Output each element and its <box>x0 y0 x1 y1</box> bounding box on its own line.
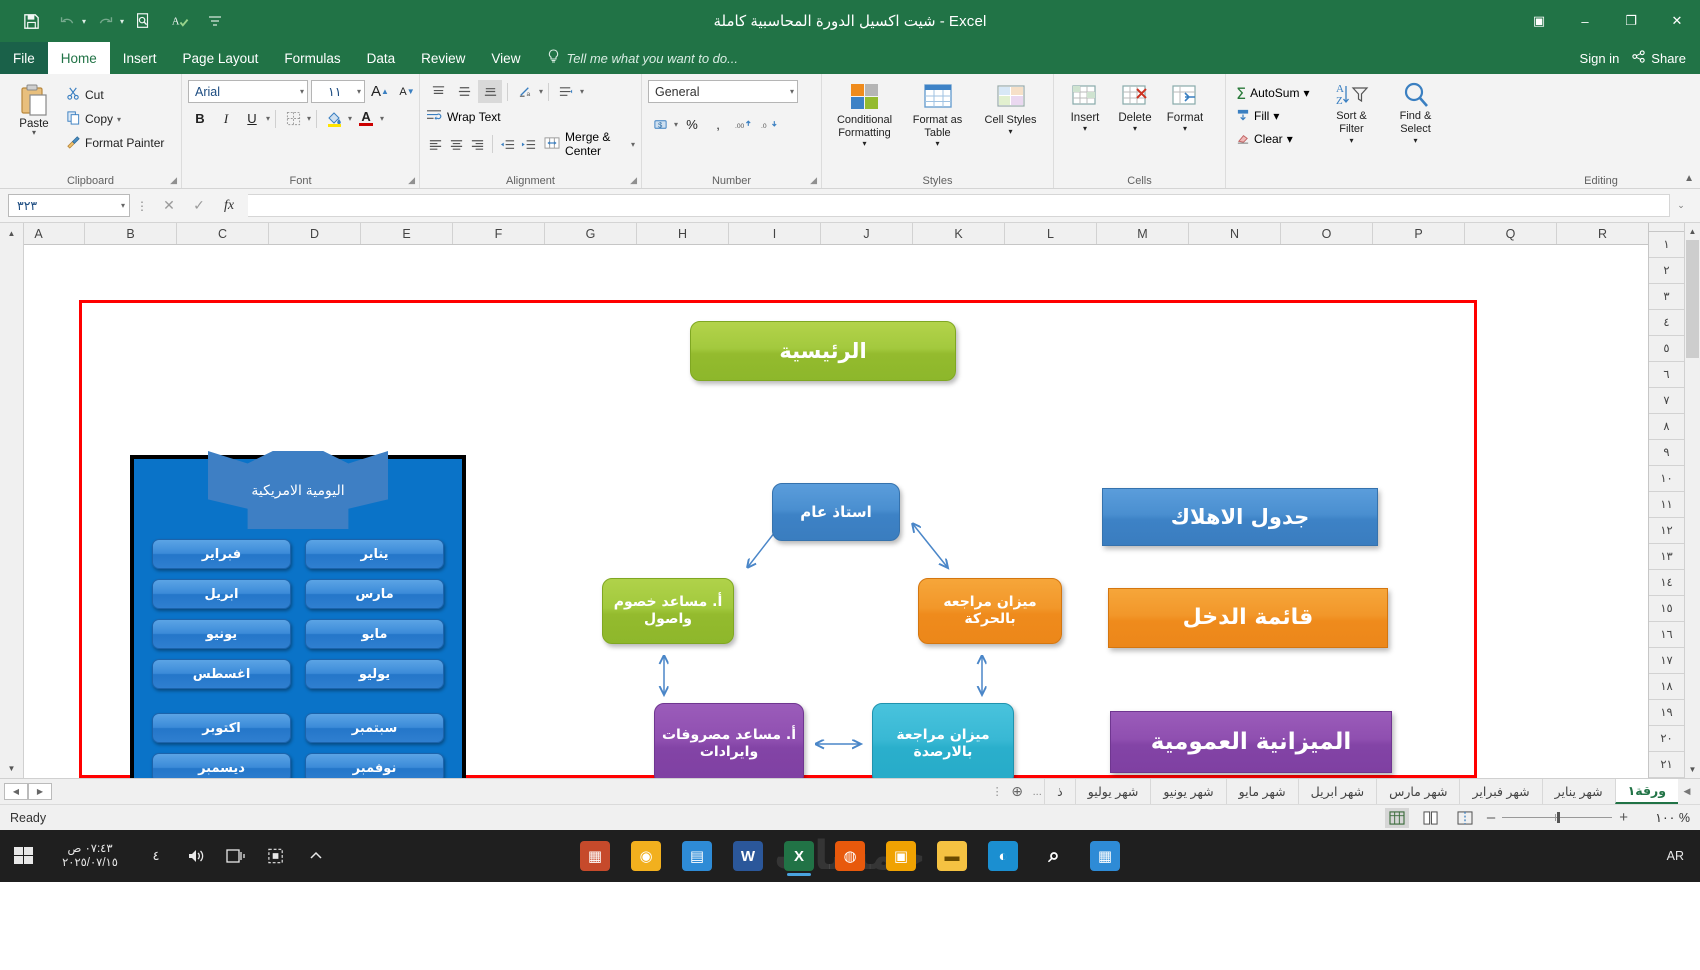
search-icon: ⌕ <box>1039 841 1069 871</box>
sign-in-link[interactable]: Sign in <box>1580 51 1620 66</box>
font-size-value: ١١ <box>328 84 341 99</box>
share-icon <box>1631 49 1646 67</box>
ribbon-tab-formulas[interactable]: Formulas <box>271 42 353 74</box>
sort-filter-label: Sort & Filter <box>1324 110 1380 136</box>
decrease-font-size-button[interactable]: A▼ <box>395 80 419 103</box>
row-header-8[interactable]: ٨ <box>1649 414 1684 440</box>
calculator-icon: ▤ <box>682 841 712 871</box>
node-balance-sheet[interactable]: الميزانية العمومية <box>1110 711 1392 773</box>
left-gutter: ▲ ▼ <box>0 223 24 778</box>
photos-icon: ▣ <box>886 841 916 871</box>
language-indicator[interactable]: AR <box>1659 849 1692 863</box>
paintbrush-icon <box>66 134 81 152</box>
scroll-down-icon[interactable]: ▼ <box>0 758 23 778</box>
autosum-dropdown-icon[interactable]: ▾ <box>1303 86 1309 100</box>
taskbar-calculator-app[interactable]: ▤ <box>676 834 718 878</box>
find-select-label: Find & Select <box>1388 110 1444 136</box>
node-trial-balance-totals[interactable]: ميزان مراجعة بالارصدة <box>872 703 1014 778</box>
volume-icon[interactable] <box>176 833 216 879</box>
status-bar-right: – + ١٠٠ % <box>1385 808 1690 828</box>
cut-button[interactable]: Cut <box>62 84 168 106</box>
wrap-text-label: Wrap Text <box>447 110 501 124</box>
node-expenses-revenues-subledger[interactable]: أ. مساعد مصروفات وايرادات <box>654 703 804 778</box>
column-header-B[interactable]: B <box>84 223 176 244</box>
share-button[interactable]: Share <box>1631 49 1686 67</box>
svg-text:A: A <box>1336 83 1344 95</box>
sheet-tab-bar: ◀ ورقة١ شهر يناير شهر فبراير شهر مارس شه… <box>0 778 1700 804</box>
diagram-canvas[interactable]: الرئيسية اليومية الامريكية يناير فبراير … <box>24 245 1648 778</box>
format-as-table-button[interactable]: Format as Table ▾ <box>901 80 974 148</box>
copy-label: Copy <box>85 112 113 126</box>
save-icon[interactable] <box>14 6 48 36</box>
rtl-dropdown-icon[interactable]: ▾ <box>580 87 584 96</box>
task-view-icon[interactable] <box>216 833 256 879</box>
column-header-O[interactable]: O <box>1280 223 1372 244</box>
taskbar-right: AR <box>1659 849 1700 863</box>
sheet-tab-partial[interactable]: ذ <box>1044 779 1075 804</box>
month-button-yanayir[interactable]: يناير <box>305 539 444 569</box>
sort-filter-button[interactable]: AZ Sort & Filter ▾ <box>1324 80 1380 146</box>
column-header-K[interactable]: K <box>912 223 1004 244</box>
accounting-dropdown-icon[interactable]: ▾ <box>674 120 678 129</box>
align-bottom-icon[interactable] <box>478 80 502 103</box>
column-header-D[interactable]: D <box>268 223 360 244</box>
merge-center-button[interactable]: Merge & Center ▾ <box>544 130 635 158</box>
confirm-entry-button[interactable]: ✓ <box>184 197 214 214</box>
taskbar-chrome-app[interactable]: ◉ <box>625 834 667 878</box>
fill-color-dropdown-icon[interactable]: ▾ <box>348 114 352 123</box>
percent-style-button[interactable]: % <box>680 113 704 136</box>
font-dialog-launcher[interactable]: ◢ <box>408 175 415 186</box>
scroll-up-icon[interactable]: ▲ <box>1685 223 1700 240</box>
first-sheet-icon[interactable]: ◀ <box>1678 786 1696 797</box>
row-header-5[interactable]: ٥ <box>1649 336 1684 362</box>
sheet-tab-july[interactable]: شهر يوليو <box>1075 779 1151 804</box>
ribbon-tab-page-layout[interactable]: Page Layout <box>170 42 272 74</box>
gutter-filler <box>0 243 23 758</box>
taskbar-store2-app[interactable]: ▦ <box>1084 834 1126 878</box>
underline-dropdown-icon[interactable]: ▾ <box>266 114 270 123</box>
column-header-A[interactable]: A <box>24 223 84 244</box>
taskbar-left: ٠٧:٤٣ ص ٢٠٢٥/٠٧/١٥ ٤ <box>0 833 336 879</box>
wrap-text-icon <box>426 108 442 125</box>
row-header-11[interactable]: ١١ <box>1649 492 1684 518</box>
share-label: Share <box>1651 51 1686 66</box>
font-family-combo[interactable]: Arial ▾ <box>188 80 308 103</box>
zoom-level-label[interactable]: ١٠٠ % <box>1638 810 1690 825</box>
column-header-I[interactable]: I <box>728 223 820 244</box>
alignment-group-label: Alignment <box>420 175 641 187</box>
status-bar: Ready – + ١٠٠ % <box>0 804 1700 830</box>
store2-icon: ▦ <box>1090 841 1120 871</box>
sheet-canvas[interactable]: R Q P O N M L K J I H G F E D C B A <box>24 223 1648 778</box>
taskbar-excel-app[interactable]: X <box>778 834 820 878</box>
taskbar-clock[interactable]: ٠٧:٤٣ ص ٢٠٢٥/٠٧/١٥ <box>44 842 136 871</box>
zoom-in-button[interactable]: + <box>1619 809 1628 826</box>
close-button[interactable]: ✕ <box>1654 0 1700 42</box>
journal-panel: اليومية الامريكية يناير فبراير مارس ابري… <box>130 455 466 778</box>
row-header-21[interactable]: ٢١ <box>1649 752 1684 778</box>
align-center-icon[interactable] <box>447 133 466 156</box>
edge-icon: ◐ <box>988 841 1018 871</box>
ribbon-group-cells: Insert ▾ Delete ▾ Format ▾ Cells <box>1054 74 1226 188</box>
clear-dropdown-icon[interactable]: ▾ <box>1287 132 1293 146</box>
divider <box>548 83 549 101</box>
folder-icon: ▬ <box>937 841 967 871</box>
number-format-combo[interactable]: General ▾ <box>648 80 798 103</box>
svg-text:.00: .00 <box>735 123 745 130</box>
column-header-H[interactable]: H <box>636 223 728 244</box>
ribbon-group-clipboard: Paste ▾ Cut Copy ▾ <box>0 74 182 188</box>
vertical-scroll-thumb[interactable] <box>1686 240 1699 358</box>
sheet-tab-options-icon[interactable]: ⋮ <box>990 779 1004 804</box>
zoom-control[interactable]: – + <box>1487 809 1628 826</box>
zoom-out-button[interactable]: – <box>1487 809 1495 826</box>
customize-qat-icon[interactable] <box>198 6 232 36</box>
copy-dropdown-icon[interactable]: ▾ <box>117 115 121 124</box>
word-icon: W <box>733 841 763 871</box>
month-button-mayu[interactable]: مايو <box>305 619 444 649</box>
tell-me-label: Tell me what you want to do... <box>566 51 738 66</box>
row-header-17[interactable]: ١٧ <box>1649 648 1684 674</box>
fill-color-icon[interactable] <box>322 107 346 130</box>
sheet-tab-may[interactable]: شهر مايو <box>1226 779 1298 804</box>
row-header-3[interactable]: ٣ <box>1649 284 1684 310</box>
delete-cells-button[interactable]: Delete ▾ <box>1110 80 1160 133</box>
font-size-combo[interactable]: ١١ ▾ <box>311 80 365 103</box>
collapse-ribbon-icon[interactable]: ▲ <box>1684 173 1694 184</box>
taskbar-store-app[interactable]: ▦ <box>574 834 616 878</box>
fill-label: Fill <box>1254 109 1269 123</box>
hscroll-right-icon[interactable]: ▶ <box>28 783 52 800</box>
divider <box>275 110 276 128</box>
excel-icon: X <box>784 841 814 871</box>
title-bar: ▾ ▾ A شيت اكسيل الدورة المحاسبية كاملة -… <box>0 0 1700 42</box>
insert-cells-label: Insert <box>1071 112 1100 124</box>
print-preview-icon[interactable] <box>126 6 160 36</box>
increase-decimal-button[interactable]: .00 <box>732 113 756 136</box>
conditional-formatting-button[interactable]: Conditional Formatting ▾ <box>828 80 901 148</box>
zoom-slider-thumb[interactable] <box>1557 812 1560 823</box>
font-color-dropdown-icon[interactable]: ▾ <box>380 114 384 123</box>
month-button-fibrayir[interactable]: فبراير <box>152 539 291 569</box>
svg-text:.0: .0 <box>761 123 767 130</box>
undo-icon[interactable] <box>50 6 84 36</box>
firefox-icon: ◍ <box>835 841 865 871</box>
increase-indent-icon[interactable] <box>519 133 538 156</box>
column-header-F[interactable]: F <box>452 223 544 244</box>
accounting-format-icon[interactable]: $ <box>648 113 672 136</box>
clear-button[interactable]: Clear ▾ <box>1232 128 1314 150</box>
status-state-label: Ready <box>10 811 46 825</box>
conditional-formatting-dropdown-icon[interactable]: ▾ <box>862 139 866 148</box>
editing-group-label: Editing <box>1536 175 1666 187</box>
autosum-label: AutoSum <box>1250 86 1299 100</box>
node-general-ledger[interactable]: استاذ عام <box>772 483 900 541</box>
redo-icon[interactable] <box>88 6 122 36</box>
row-header-20[interactable]: ٢٠ <box>1649 726 1684 752</box>
month-button-yunyu[interactable]: يونيو <box>152 619 291 649</box>
snip-icon[interactable] <box>256 833 296 879</box>
format-cells-button[interactable]: Format ▾ <box>1160 80 1210 133</box>
page-layout-view-icon[interactable] <box>1419 808 1443 828</box>
taskbar-folder-app[interactable]: ▬ <box>931 834 973 878</box>
scroll-down-icon[interactable]: ▼ <box>1685 761 1700 778</box>
format-painter-label: Format Painter <box>85 136 164 150</box>
journal-banner: اليومية الامريكية <box>208 451 388 529</box>
sheet-tab-overflow-icon[interactable]: ... <box>1030 779 1044 804</box>
svg-text:A: A <box>171 16 179 27</box>
tell-me-box[interactable]: Tell me what you want to do... <box>547 42 738 74</box>
clock-time: ٠٧:٤٣ ص <box>67 842 112 856</box>
row-header-2[interactable]: ٢ <box>1649 258 1684 284</box>
column-header-Q[interactable]: Q <box>1464 223 1556 244</box>
sheet-tab-march[interactable]: شهر مارس <box>1376 779 1459 804</box>
taskbar-search-app[interactable]: ⌕ <box>1033 834 1075 878</box>
find-select-dropdown-icon[interactable]: ▾ <box>1413 136 1417 146</box>
insert-cells-dropdown-icon[interactable]: ▾ <box>1083 124 1087 133</box>
ribbon-tab-home[interactable]: Home <box>48 42 110 74</box>
node-liabilities-assets-subledger[interactable]: أ. مساعد خصوم واصول <box>602 578 734 644</box>
ribbon-tab-file[interactable]: File <box>0 42 48 74</box>
align-middle-icon[interactable] <box>452 80 476 103</box>
find-select-button[interactable]: Find & Select ▾ <box>1388 80 1444 146</box>
month-button-abril[interactable]: ابريل <box>152 579 291 609</box>
ribbon-tab-data[interactable]: Data <box>354 42 409 74</box>
month-button-yulyu[interactable]: يوليو <box>305 659 444 689</box>
row-header-12[interactable]: ١٢ <box>1649 518 1684 544</box>
merge-cells-icon <box>544 136 560 153</box>
select-all-corner[interactable]: ▲ <box>0 223 23 243</box>
row-header-10[interactable]: ١٠ <box>1649 466 1684 492</box>
paste-dropdown-icon[interactable]: ▾ <box>32 128 36 137</box>
fill-button[interactable]: Fill ▾ <box>1232 105 1314 127</box>
row-header-7[interactable]: ٧ <box>1649 388 1684 414</box>
alignment-dialog-launcher[interactable]: ◢ <box>630 175 637 186</box>
lightbulb-icon <box>547 49 560 67</box>
svg-text:Z: Z <box>1336 95 1343 107</box>
month-button-nufambir[interactable]: نوفمبر <box>305 753 444 778</box>
row-header-18[interactable]: ١٨ <box>1649 674 1684 700</box>
row-header-4[interactable]: ٤ <box>1649 310 1684 336</box>
ribbon-group-font: Arial ▾ ١١ ▾ A▲ A▼ B I U ▾ ▾ <box>182 74 420 188</box>
conditional-formatting-label: Conditional Formatting <box>828 114 901 139</box>
formula-input[interactable] <box>248 194 1670 217</box>
month-button-uktubir[interactable]: اكتوبر <box>152 713 291 743</box>
insert-cells-button[interactable]: Insert ▾ <box>1060 80 1110 133</box>
sheet-tab-february[interactable]: شهر فبراير <box>1459 779 1541 804</box>
chevron-down-icon: ▾ <box>121 201 125 210</box>
font-group-label: Font <box>182 175 419 187</box>
font-color-letter: A <box>361 111 370 122</box>
bold-button[interactable]: B <box>188 107 212 130</box>
node-depreciation-schedule[interactable]: جدول الاهلاك <box>1102 488 1378 546</box>
number-dialog-launcher[interactable]: ◢ <box>810 175 817 186</box>
delete-cells-label: Delete <box>1118 112 1151 124</box>
rtl-direction-icon[interactable] <box>554 80 578 103</box>
borders-icon[interactable] <box>281 107 305 130</box>
taskbar: خمسات ٠٧:٤٣ ص ٢٠٢٥/٠٧/١٥ ٤ ▦ ◉ ▤ W X ◍ <box>0 830 1700 882</box>
horizontal-scroll-controls: ◀ ▶ <box>4 779 52 804</box>
scissors-icon <box>66 86 81 104</box>
orientation-icon[interactable]: a <box>513 80 537 103</box>
normal-view-icon[interactable] <box>1385 808 1409 828</box>
autosum-button[interactable]: Σ AutoSum ▾ <box>1232 82 1314 104</box>
sheet-tab-waraqa1[interactable]: ورقة١ <box>1615 779 1678 804</box>
column-header-P[interactable]: P <box>1372 223 1464 244</box>
orientation-dropdown-icon[interactable]: ▾ <box>539 87 543 96</box>
quick-access-toolbar: ▾ ▾ A <box>0 6 232 36</box>
taskbar-firefox-app[interactable]: ◍ <box>829 834 871 878</box>
taskbar-word-app[interactable]: W <box>727 834 769 878</box>
format-as-table-label: Format as Table <box>901 114 974 139</box>
format-painter-button[interactable]: Format Painter <box>62 132 168 154</box>
zoom-slider-track[interactable] <box>1502 817 1612 818</box>
row-headers: ١ ٢ ٣ ٤ ٥ ٦ ٧ ٨ ٩ ١٠ ١١ ١٢ ١٣ ١٤ ١٥ ١٦ ١… <box>1648 223 1684 778</box>
taskbar-edge-app[interactable]: ◐ <box>982 834 1024 878</box>
cancel-entry-button[interactable]: ✕ <box>154 197 184 214</box>
ribbon-group-editing: Σ AutoSum ▾ Fill ▾ Clear ▾ AZ Sort & Fil… <box>1226 74 1700 188</box>
name-box-value: ٣٢٣ <box>17 198 37 213</box>
font-color-icon[interactable]: A <box>354 107 378 130</box>
sort-filter-dropdown-icon[interactable]: ▾ <box>1349 136 1353 146</box>
row-header-6[interactable]: ٦ <box>1649 362 1684 388</box>
align-left-icon[interactable] <box>426 133 445 156</box>
cell-styles-label: Cell Styles <box>985 114 1037 127</box>
align-right-icon[interactable] <box>468 133 487 156</box>
column-header-R[interactable]: R <box>1556 223 1648 244</box>
row-header-15[interactable]: ١٥ <box>1649 596 1684 622</box>
node-trial-balance-movement[interactable]: ميزان مراجعه بالحركة <box>918 578 1062 644</box>
column-header-L[interactable]: L <box>1004 223 1096 244</box>
clear-label: Clear <box>1254 132 1283 146</box>
paste-button[interactable]: Paste ▾ <box>6 80 62 137</box>
borders-dropdown-icon[interactable]: ▾ <box>307 114 311 123</box>
worksheet-area: ▲ ▼ R Q P O N M L K J I H G F E D C B A <box>0 223 1700 778</box>
new-sheet-button[interactable]: ⊕ <box>1004 779 1030 804</box>
taskbar-photos-app[interactable]: ▣ <box>880 834 922 878</box>
name-box[interactable]: ٣٢٣ ▾ <box>8 194 130 217</box>
align-top-icon[interactable] <box>426 80 450 103</box>
styles-group-label: Styles <box>822 175 1053 187</box>
vertical-scroll-track[interactable] <box>1685 240 1700 761</box>
format-as-table-dropdown-icon[interactable]: ▾ <box>935 139 939 148</box>
ribbon-tab-review[interactable]: Review <box>408 42 478 74</box>
cells-group-label: Cells <box>1054 175 1225 187</box>
italic-button[interactable]: I <box>214 107 238 130</box>
row-header-13[interactable]: ١٣ <box>1649 544 1684 570</box>
chevron-down-icon: ▾ <box>357 87 361 96</box>
underline-button[interactable]: U <box>240 107 264 130</box>
notification-count-badge[interactable]: ٤ <box>136 833 176 879</box>
column-header-M[interactable]: M <box>1096 223 1188 244</box>
increase-font-size-button[interactable]: A▲ <box>368 80 392 103</box>
minimize-button[interactable]: – <box>1562 0 1608 42</box>
delete-cells-dropdown-icon[interactable]: ▾ <box>1133 124 1137 133</box>
row-header-corner[interactable] <box>1649 223 1684 232</box>
fill-dropdown-icon[interactable]: ▾ <box>1273 109 1279 123</box>
row-header-1[interactable]: ١ <box>1649 232 1684 258</box>
column-headers: R Q P O N M L K J I H G F E D C B A <box>24 223 1648 245</box>
taskbar-apps: ▦ ◉ ▤ W X ◍ ▣ ▬ ◐ ⌕ ▦ <box>574 834 1126 878</box>
font-color-swatch <box>359 123 373 126</box>
column-header-J[interactable]: J <box>820 223 912 244</box>
node-income-statement[interactable]: قائمة الدخل <box>1108 588 1388 648</box>
decrease-indent-icon[interactable] <box>498 133 517 156</box>
ribbon-display-options-icon[interactable]: ▣ <box>1516 0 1562 42</box>
cell-styles-button[interactable]: Cell Styles ▾ <box>974 80 1047 136</box>
month-buttons-grid: يناير فبراير مارس ابريل مايو يونيو يوليو… <box>152 539 444 778</box>
sheet-tab-january[interactable]: شهر يناير <box>1542 779 1615 804</box>
ribbon-tab-insert[interactable]: Insert <box>110 42 170 74</box>
column-header-N[interactable]: N <box>1188 223 1280 244</box>
clipboard-dialog-launcher[interactable]: ◢ <box>170 175 177 186</box>
row-header-16[interactable]: ١٦ <box>1649 622 1684 648</box>
month-button-aghustus[interactable]: اغسطس <box>152 659 291 689</box>
format-cells-dropdown-icon[interactable]: ▾ <box>1183 124 1187 133</box>
ribbon-tab-view[interactable]: View <box>478 42 533 74</box>
spelling-icon[interactable]: A <box>162 6 196 36</box>
divider <box>316 110 317 128</box>
sheet-tab-june[interactable]: شهر يونيو <box>1150 779 1225 804</box>
column-header-E[interactable]: E <box>360 223 452 244</box>
wrap-text-button[interactable]: Wrap Text <box>426 108 501 125</box>
chevron-down-icon: ▾ <box>300 87 304 96</box>
column-header-G[interactable]: G <box>544 223 636 244</box>
decrease-decimal-button[interactable]: .0 <box>758 113 782 136</box>
ribbon-group-styles: Conditional Formatting ▾ Format as Table… <box>822 74 1054 188</box>
show-hidden-icons-icon[interactable] <box>296 833 336 879</box>
vertical-scrollbar[interactable]: ▲ ▼ <box>1684 223 1700 778</box>
cell-styles-dropdown-icon[interactable]: ▾ <box>1008 127 1012 136</box>
sigma-icon: Σ <box>1236 84 1246 103</box>
expand-formula-bar-icon[interactable]: ⌄ <box>1670 200 1692 211</box>
fill-down-icon <box>1236 108 1250 125</box>
formula-bar-separator: ⋮ <box>130 199 154 213</box>
home-button[interactable]: الرئيسية <box>690 321 956 381</box>
ribbon-group-alignment: a ▾ ▾ Wrap Text <box>420 74 642 188</box>
row-header-14[interactable]: ١٤ <box>1649 570 1684 596</box>
number-group-label: Number <box>642 175 821 187</box>
month-button-sibtambir[interactable]: سبتمبر <box>305 713 444 743</box>
chevron-down-icon: ▾ <box>790 87 794 96</box>
maximize-button[interactable]: ❐ <box>1608 0 1654 42</box>
clipboard-group-label: Clipboard <box>0 175 181 187</box>
sheet-tab-april[interactable]: شهر ابريل <box>1298 779 1376 804</box>
copy-button[interactable]: Copy ▾ <box>62 108 168 130</box>
formula-bar: ٣٢٣ ▾ ⋮ ✕ ✓ fx ⌄ <box>0 189 1700 223</box>
clock-date: ٢٠٢٥/٠٧/١٥ <box>62 856 118 870</box>
copy-icon <box>66 110 81 128</box>
month-button-disambir[interactable]: ديسمبر <box>152 753 291 778</box>
divider <box>507 83 508 101</box>
row-header-9[interactable]: ٩ <box>1649 440 1684 466</box>
merge-dropdown-icon[interactable]: ▾ <box>631 140 635 149</box>
column-header-C[interactable]: C <box>176 223 268 244</box>
row-header-19[interactable]: ١٩ <box>1649 700 1684 726</box>
start-icon[interactable] <box>4 833 44 879</box>
hscroll-left-icon[interactable]: ◀ <box>4 783 28 800</box>
insert-function-button[interactable]: fx <box>214 198 244 214</box>
window-title: شيت اكسيل الدورة المحاسبية كاملة - Excel <box>0 12 1700 30</box>
store-icon: ▦ <box>580 841 610 871</box>
font-family-value: Arial <box>195 85 220 99</box>
page-break-view-icon[interactable] <box>1453 808 1477 828</box>
month-button-maris[interactable]: مارس <box>305 579 444 609</box>
format-cells-label: Format <box>1167 112 1203 124</box>
comma-style-button[interactable]: , <box>706 113 730 136</box>
eraser-icon <box>1236 131 1250 148</box>
